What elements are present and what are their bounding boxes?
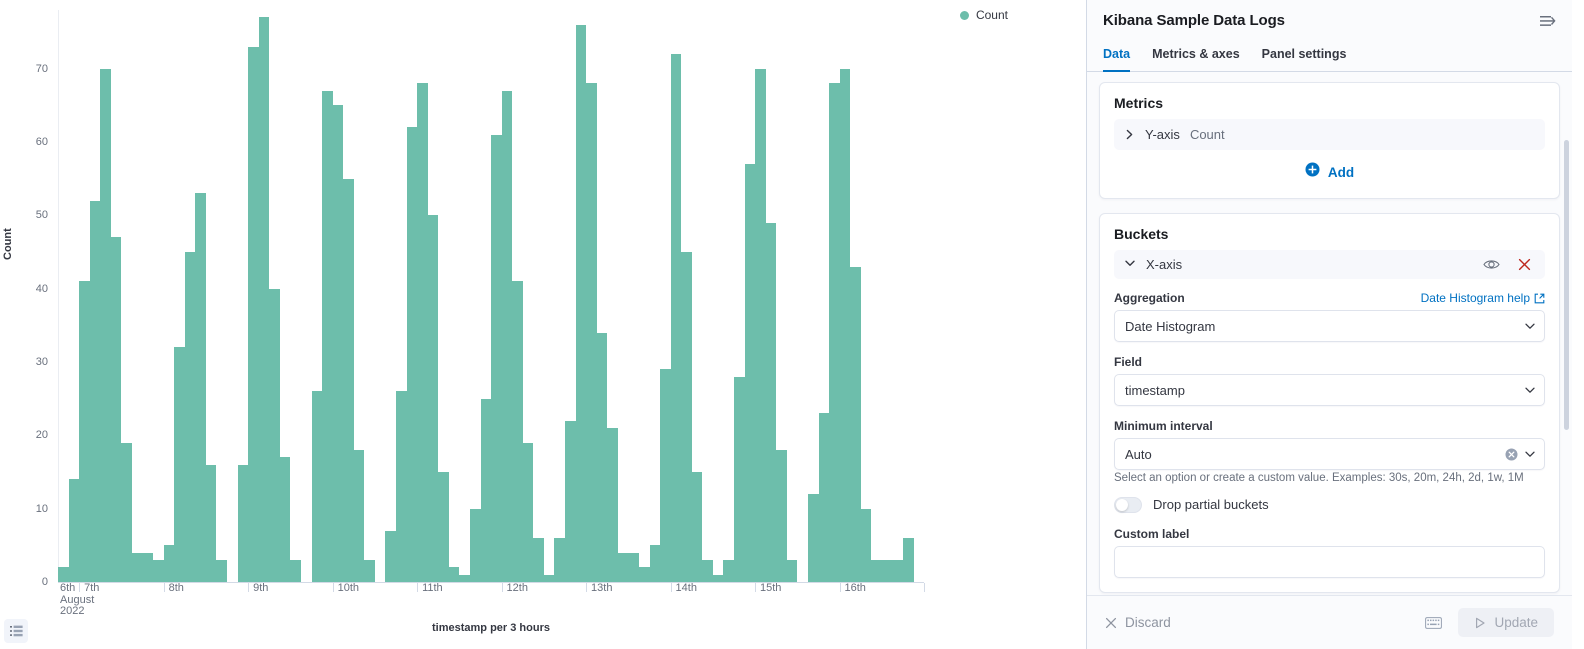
bar[interactable] bbox=[702, 560, 713, 582]
bar[interactable] bbox=[248, 47, 259, 582]
y-axis-tick-label: 10 bbox=[36, 503, 48, 515]
bar[interactable] bbox=[713, 575, 724, 582]
y-axis-title: Count bbox=[2, 228, 14, 260]
bar[interactable] bbox=[586, 83, 597, 582]
bar[interactable] bbox=[565, 421, 576, 582]
x-axis-tick-label: 7th bbox=[79, 583, 99, 592]
bar[interactable] bbox=[438, 472, 449, 582]
discard-button[interactable]: Discard bbox=[1105, 615, 1171, 630]
x-axis-tick-label: 8th bbox=[164, 583, 184, 592]
y-axis-tick-label: 20 bbox=[36, 429, 48, 441]
x-axis-title: timestamp per 3 hours bbox=[58, 622, 924, 634]
help-link-text: Date Histogram help bbox=[1421, 291, 1530, 305]
scrollbar-thumb[interactable] bbox=[1564, 140, 1569, 430]
bar[interactable] bbox=[512, 281, 523, 582]
editor-tabs: Data Metrics & axes Panel settings bbox=[1087, 41, 1572, 72]
clear-circle-icon bbox=[1505, 448, 1518, 461]
bar[interactable] bbox=[840, 69, 851, 582]
bar[interactable] bbox=[185, 252, 196, 582]
side-panel-header: Kibana Sample Data Logs bbox=[1087, 0, 1572, 31]
bar[interactable] bbox=[892, 560, 903, 582]
y-axis-tick-label: 60 bbox=[36, 136, 48, 148]
bar[interactable] bbox=[238, 465, 249, 582]
page-title: Kibana Sample Data Logs bbox=[1103, 12, 1285, 29]
bar[interactable] bbox=[269, 289, 280, 582]
side-panel-scrollbar[interactable] bbox=[1564, 140, 1569, 595]
aggregation-label: Aggregation bbox=[1114, 291, 1185, 305]
bar[interactable] bbox=[216, 560, 227, 582]
custom-label-label: Custom label bbox=[1114, 527, 1545, 541]
bar[interactable] bbox=[417, 83, 428, 582]
bar[interactable] bbox=[206, 465, 217, 582]
aggregation-select[interactable]: Date Histogram bbox=[1114, 310, 1545, 342]
bar[interactable] bbox=[650, 545, 661, 582]
bar[interactable] bbox=[787, 560, 798, 582]
drop-partial-buckets-row: Drop partial buckets bbox=[1114, 497, 1545, 513]
update-button[interactable]: Update bbox=[1458, 608, 1554, 637]
bar[interactable] bbox=[121, 443, 132, 582]
metric-axis-label: Y-axis bbox=[1145, 127, 1180, 142]
collapse-panel-button[interactable] bbox=[1540, 14, 1556, 31]
buckets-heading: Buckets bbox=[1114, 226, 1545, 242]
legend-label: Count bbox=[976, 8, 1008, 22]
bar[interactable] bbox=[819, 413, 830, 582]
buckets-card: Buckets X-axis bbox=[1099, 213, 1560, 593]
bar[interactable] bbox=[396, 391, 407, 582]
drop-partial-buckets-label: Drop partial buckets bbox=[1153, 497, 1269, 512]
y-axis-tick-label: 30 bbox=[36, 356, 48, 368]
bar[interactable] bbox=[597, 333, 608, 582]
chevron-right-icon bbox=[1124, 129, 1135, 140]
bar[interactable] bbox=[776, 450, 787, 582]
bar[interactable] bbox=[481, 399, 492, 582]
bar[interactable] bbox=[407, 127, 418, 582]
bar[interactable] bbox=[280, 457, 291, 582]
clear-interval-button[interactable] bbox=[1505, 448, 1518, 461]
date-histogram-help-link[interactable]: Date Histogram help bbox=[1421, 291, 1545, 305]
bar[interactable] bbox=[90, 201, 101, 582]
editor-body: Metrics Y-axis Count bbox=[1087, 72, 1572, 595]
bar[interactable] bbox=[681, 252, 692, 582]
keyboard-icon bbox=[1425, 617, 1442, 629]
chevron-down-icon bbox=[1524, 448, 1536, 460]
drop-partial-buckets-toggle[interactable] bbox=[1114, 497, 1142, 513]
x-axis-tick-label: 10th bbox=[333, 583, 359, 592]
field-value: timestamp bbox=[1125, 383, 1524, 398]
bar[interactable] bbox=[428, 215, 439, 582]
bar[interactable] bbox=[660, 369, 671, 582]
bar[interactable] bbox=[903, 538, 914, 582]
aggregation-value: Date Histogram bbox=[1125, 319, 1524, 334]
bar[interactable] bbox=[850, 267, 861, 582]
field-select[interactable]: timestamp bbox=[1114, 374, 1545, 406]
tab-metrics-and-axes[interactable]: Metrics & axes bbox=[1152, 41, 1240, 72]
toggle-knob bbox=[1116, 499, 1128, 511]
bar[interactable] bbox=[58, 567, 69, 582]
bar[interactable] bbox=[692, 472, 703, 582]
y-axis-tick-label: 0 bbox=[42, 576, 48, 588]
aggregation-label-row: Aggregation Date Histogram help bbox=[1114, 291, 1545, 305]
bar[interactable] bbox=[354, 450, 365, 582]
custom-label-input[interactable] bbox=[1114, 546, 1545, 578]
bar[interactable] bbox=[671, 54, 682, 582]
close-icon bbox=[1105, 617, 1117, 629]
bar[interactable] bbox=[449, 567, 460, 582]
editor-footer: Discard Update bbox=[1087, 595, 1572, 649]
remove-bucket-button[interactable] bbox=[1514, 258, 1535, 271]
bar[interactable] bbox=[259, 17, 270, 582]
bar[interactable] bbox=[312, 391, 323, 582]
bar[interactable] bbox=[143, 553, 154, 582]
bar[interactable] bbox=[502, 91, 513, 582]
y-axis-tick-label: 50 bbox=[36, 209, 48, 221]
plus-circle-icon bbox=[1305, 162, 1320, 182]
bar[interactable] bbox=[533, 538, 544, 582]
bar[interactable] bbox=[343, 179, 354, 582]
bar[interactable] bbox=[755, 69, 766, 582]
bar[interactable] bbox=[491, 135, 502, 582]
add-metric-button[interactable]: Add bbox=[1114, 150, 1545, 184]
play-icon bbox=[1474, 617, 1486, 629]
bar[interactable] bbox=[639, 567, 650, 582]
bar[interactable] bbox=[808, 494, 819, 582]
bucket-axis-label: X-axis bbox=[1146, 257, 1469, 272]
legend-toggle-button[interactable] bbox=[4, 619, 28, 643]
x-axis-tick-label: 11th bbox=[417, 583, 443, 592]
bar[interactable] bbox=[385, 531, 396, 582]
x-axis-tick-label: 14th bbox=[671, 583, 697, 592]
eye-icon bbox=[1483, 258, 1500, 271]
metric-row-y-axis[interactable]: Y-axis Count bbox=[1114, 119, 1545, 150]
bar[interactable] bbox=[829, 83, 840, 582]
bar[interactable] bbox=[723, 560, 734, 582]
bar[interactable] bbox=[79, 281, 90, 582]
bar[interactable] bbox=[132, 553, 143, 582]
bar[interactable] bbox=[459, 575, 470, 582]
bar-series[interactable] bbox=[58, 10, 924, 582]
add-metric-label: Add bbox=[1328, 165, 1354, 180]
x-axis-tick-label: 13th bbox=[586, 583, 612, 592]
x-axis-tick-label: 12th bbox=[502, 583, 528, 592]
x-axis-tick-label: 9th bbox=[248, 583, 268, 592]
kibana-visualize-editor: Count Count 010203040506070 6thAugust202… bbox=[0, 0, 1584, 649]
chevron-down-icon bbox=[1524, 384, 1536, 396]
bar[interactable] bbox=[290, 560, 301, 582]
metric-agg-value: Count bbox=[1190, 127, 1225, 142]
legend-color-swatch bbox=[960, 11, 969, 20]
bar[interactable] bbox=[745, 164, 756, 582]
minimum-interval-hint: Select an option or create a custom valu… bbox=[1114, 470, 1545, 487]
field-label: Field bbox=[1114, 355, 1545, 369]
x-axis-tick-label: 16th bbox=[840, 583, 866, 592]
bar[interactable] bbox=[69, 479, 80, 582]
x-axis-origin-label-line: 2022 bbox=[60, 606, 94, 618]
bar[interactable] bbox=[100, 69, 111, 582]
discard-label: Discard bbox=[1125, 615, 1171, 630]
close-icon bbox=[1518, 258, 1531, 271]
metrics-heading: Metrics bbox=[1114, 95, 1545, 111]
minimum-interval-select[interactable]: Auto bbox=[1114, 438, 1545, 470]
bar[interactable] bbox=[111, 237, 122, 582]
keyboard-shortcuts-button[interactable] bbox=[1421, 613, 1446, 633]
editor-side-panel: Kibana Sample Data Logs Data Metrics & a… bbox=[1086, 0, 1572, 649]
y-axis-tick-label: 70 bbox=[36, 63, 48, 75]
toggle-visibility-button[interactable] bbox=[1479, 258, 1504, 271]
bar[interactable] bbox=[333, 105, 344, 582]
bar[interactable] bbox=[861, 509, 872, 582]
bar[interactable] bbox=[164, 545, 175, 582]
bar[interactable] bbox=[364, 560, 375, 582]
chart-pane: Count Count 010203040506070 6thAugust202… bbox=[0, 0, 1086, 649]
bucket-row-x-axis[interactable]: X-axis bbox=[1114, 250, 1545, 279]
bar[interactable] bbox=[554, 538, 565, 582]
x-axis-tick-label: 15th bbox=[755, 583, 781, 592]
tab-panel-settings[interactable]: Panel settings bbox=[1262, 41, 1347, 72]
x-axis-end-tick bbox=[924, 583, 929, 592]
list-icon bbox=[10, 625, 23, 637]
minimum-interval-value: Auto bbox=[1125, 447, 1505, 462]
bar[interactable] bbox=[871, 560, 882, 582]
collapse-arrow-icon bbox=[1540, 14, 1556, 28]
plot-area: 010203040506070 bbox=[58, 10, 924, 582]
external-link-icon bbox=[1534, 293, 1545, 304]
legend-item-count[interactable]: Count bbox=[960, 8, 1008, 22]
bar[interactable] bbox=[734, 377, 745, 582]
bar[interactable] bbox=[544, 575, 555, 582]
bar[interactable] bbox=[628, 553, 639, 582]
metrics-card: Metrics Y-axis Count bbox=[1099, 82, 1560, 199]
bar[interactable] bbox=[607, 428, 618, 582]
bar[interactable] bbox=[766, 223, 777, 582]
bar[interactable] bbox=[195, 193, 206, 582]
bar[interactable] bbox=[322, 91, 333, 582]
bar[interactable] bbox=[882, 560, 893, 582]
y-axis-tick-label: 40 bbox=[36, 283, 48, 295]
tab-data[interactable]: Data bbox=[1103, 41, 1130, 72]
bar[interactable] bbox=[618, 553, 629, 582]
minimum-interval-label: Minimum interval bbox=[1114, 419, 1545, 433]
bar[interactable] bbox=[576, 25, 587, 582]
update-label: Update bbox=[1494, 615, 1538, 630]
bar[interactable] bbox=[174, 347, 185, 582]
chevron-down-icon bbox=[1124, 257, 1136, 272]
chevron-down-icon bbox=[1524, 320, 1536, 332]
bar[interactable] bbox=[153, 560, 164, 582]
bar[interactable] bbox=[470, 509, 481, 582]
x-axis-ticks: 6thAugust20227th8th9th10th11th12th13th14… bbox=[58, 583, 924, 627]
bar[interactable] bbox=[523, 443, 534, 582]
